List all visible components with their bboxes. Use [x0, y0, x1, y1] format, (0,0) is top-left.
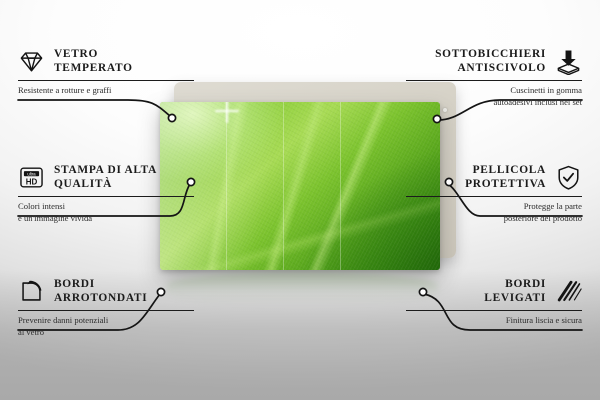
divider: [406, 196, 582, 197]
svg-text:ultra: ultra: [27, 171, 36, 176]
feature-subtitle: Cuscinetti in gomma autoadesivi inclusi …: [406, 85, 582, 107]
rounded-corner-icon: [18, 278, 45, 305]
divider: [18, 310, 194, 311]
diamond-icon: [18, 48, 45, 75]
feature-subtitle: Resistente a rotture e graffi: [18, 85, 194, 96]
feature-title: BORDI LEVIGATI: [484, 278, 546, 304]
product-reflection: [166, 272, 438, 306]
feature-title: STAMPA DI ALTA QUALITÀ: [54, 164, 157, 190]
feature-header: VETRO TEMPERATO: [18, 48, 194, 75]
feature-title: BORDI ARROTONDATI: [54, 278, 147, 304]
feature-stampa-alta-qualita: ultra HD STAMPA DI ALTA QUALITÀ Colori i…: [18, 164, 194, 224]
feature-header: ultra HD STAMPA DI ALTA QUALITÀ: [18, 164, 194, 191]
infographic-canvas: VETRO TEMPERATO Resistente a rotture e g…: [0, 0, 600, 400]
feature-title: PELLICOLA PROTETTIVA: [465, 164, 546, 190]
feature-bordi-levigati: BORDI LEVIGATI Finitura liscia e sicura: [406, 278, 582, 327]
glass-band: [283, 102, 284, 270]
feature-title: SOTTOBICCHIERI ANTISCIVOLO: [435, 48, 546, 74]
divider: [18, 196, 194, 197]
feature-header: SOTTOBICCHIERI ANTISCIVOLO: [406, 48, 582, 75]
feature-subtitle: Protegge la parte posteriore del prodott…: [406, 201, 582, 223]
glass-band: [226, 102, 227, 270]
product-glass-panel: [160, 102, 440, 270]
divider: [406, 80, 582, 81]
feature-header: PELLICOLA PROTETTIVA: [406, 164, 582, 191]
feature-header: BORDI ARROTONDATI: [18, 278, 194, 305]
product-image: [160, 88, 448, 270]
divider: [406, 310, 582, 311]
ultra-hd-icon: ultra HD: [18, 164, 45, 191]
sparkle-highlight: [215, 102, 239, 123]
glass-band: [340, 102, 341, 270]
feature-vetro-temperato: VETRO TEMPERATO Resistente a rotture e g…: [18, 48, 194, 97]
svg-text:HD: HD: [26, 177, 38, 186]
feature-title: VETRO TEMPERATO: [54, 48, 133, 74]
feature-pellicola-protettiva: PELLICOLA PROTETTIVA Protegge la parte p…: [406, 164, 582, 224]
feature-subtitle: Finitura liscia e sicura: [406, 315, 582, 326]
feature-bordi-arrotondati: BORDI ARROTONDATI Prevenire danni potenz…: [18, 278, 194, 338]
feature-sottobicchieri-antiscivolo: SOTTOBICCHIERI ANTISCIVOLO Cuscinetti in…: [406, 48, 582, 108]
shield-check-icon: [555, 164, 582, 191]
feature-subtitle: Colori intensi e un'immagine vivida: [18, 201, 194, 223]
feature-subtitle: Prevenire danni potenziali al vetro: [18, 315, 194, 337]
hatch-lines-icon: [555, 278, 582, 305]
divider: [18, 80, 194, 81]
feature-header: BORDI LEVIGATI: [406, 278, 582, 305]
download-pad-icon: [555, 48, 582, 75]
